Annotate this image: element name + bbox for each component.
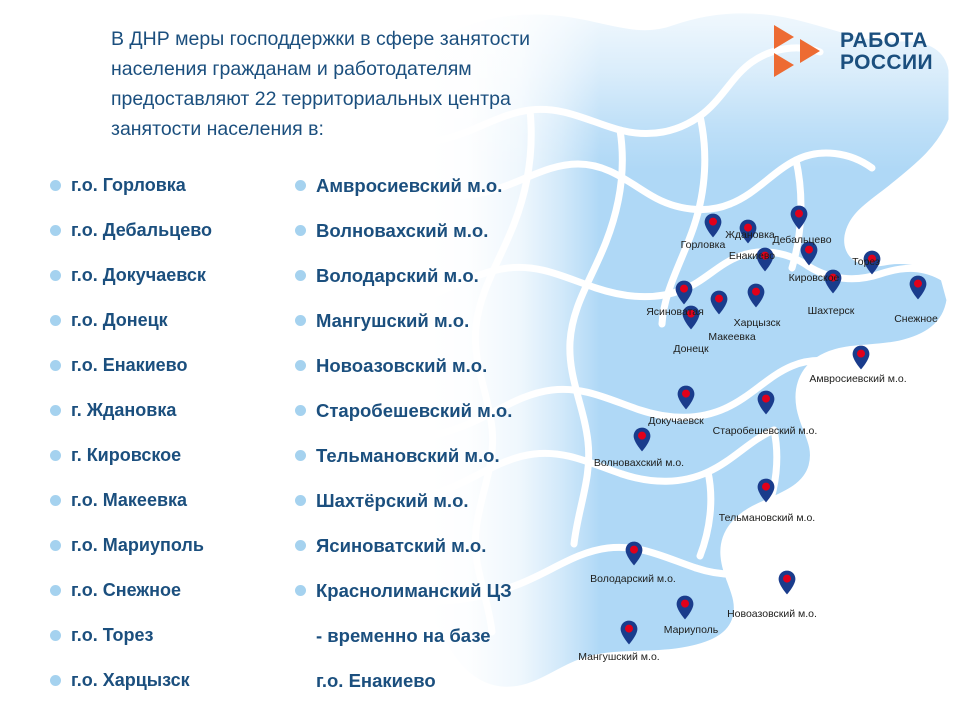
- bullet-icon: [50, 630, 61, 641]
- bullet-icon: [50, 540, 61, 551]
- list-item-label: Шахтёрский м.о.: [316, 478, 469, 523]
- bullet-icon: [50, 225, 61, 236]
- logo-wordmark: РАБОТА РОССИИ: [840, 30, 933, 75]
- list-item: г.о. Горловка: [50, 163, 295, 208]
- bullet-icon: [50, 270, 61, 281]
- headline-line-1: В ДНР меры господдержки в сфере занятост…: [111, 24, 616, 54]
- list-item: Волновахский м.о.: [295, 208, 625, 253]
- list-item-label: Амвросиевский м.о.: [316, 163, 502, 208]
- list-item-label: г.о. Енакиево: [71, 343, 188, 388]
- bullet-icon: [50, 450, 61, 461]
- list-item-label: - временно на базе: [316, 613, 491, 658]
- list-item: г.о. Мариуполь: [50, 523, 295, 568]
- list-item-label: г. Ждановка: [71, 388, 176, 433]
- bullet-icon: [295, 225, 306, 236]
- list-item: г.о. Макеевка: [50, 478, 295, 523]
- bullet-icon: [50, 180, 61, 191]
- list-item: г. Кировское: [50, 433, 295, 478]
- list-item: г.о. Докучаевск: [50, 253, 295, 298]
- list-item: Тельмановский м.о.: [295, 433, 625, 478]
- list-item-label: Володарский м.о.: [316, 253, 479, 298]
- list-item-label: Мангушский м.о.: [316, 298, 469, 343]
- list-item-label: г.о. Енакиево: [316, 658, 436, 703]
- list-column-cities: г.о. Горловкаг.о. Дебальцевог.о. Докучае…: [50, 163, 295, 703]
- list-item-label: Старобешевский м.о.: [316, 388, 512, 433]
- list-item-label: г.о. Харцызск: [71, 658, 190, 703]
- list-item-label: Новоазовский м.о.: [316, 343, 487, 388]
- list-item: г.о. Торез: [50, 613, 295, 658]
- headline-line-3: предоставляют 22 территориальных центра: [111, 84, 616, 114]
- list-item-label: Краснолиманский ЦЗ: [316, 568, 512, 613]
- three-orange-triangles-icon: [772, 24, 828, 80]
- list-item: Шахтёрский м.о.: [295, 478, 625, 523]
- list-item-label: Тельмановский м.о.: [316, 433, 500, 478]
- bullet-icon: [295, 450, 306, 461]
- list-item: Мангушский м.о.: [295, 298, 625, 343]
- bullet-icon: [295, 360, 306, 371]
- list-item: - временно на базе: [295, 613, 625, 658]
- centers-list: г.о. Горловкаг.о. Дебальцевог.о. Докучае…: [50, 163, 625, 703]
- list-item-label: г.о. Донецк: [71, 298, 168, 343]
- list-item-label: г.о. Докучаевск: [71, 253, 206, 298]
- brand-logo: РАБОТА РОССИИ: [772, 24, 933, 80]
- list-item-label: г.о. Снежное: [71, 568, 181, 613]
- infographic-poster: ГорловкаДебальцевоЕнакиевоЖдановкаКировс…: [0, 0, 960, 711]
- list-item: Новоазовский м.о.: [295, 343, 625, 388]
- bullet-icon: [50, 315, 61, 326]
- list-item-label: г.о. Мариуполь: [71, 523, 204, 568]
- bullet-icon: [50, 495, 61, 506]
- logo-line-1: РАБОТА: [840, 30, 933, 52]
- page-title: В ДНР меры господдержки в сфере занятост…: [111, 24, 616, 144]
- bullet-icon: [50, 675, 61, 686]
- list-item-label: Ясиноватский м.о.: [316, 523, 486, 568]
- bullet-icon: [50, 405, 61, 416]
- headline-line-2: населения гражданам и работодателям: [111, 54, 616, 84]
- list-item: г.о. Енакиево: [295, 658, 625, 703]
- list-item: Краснолиманский ЦЗ: [295, 568, 625, 613]
- list-item-label: г.о. Дебальцево: [71, 208, 212, 253]
- list-item: г.о. Дебальцево: [50, 208, 295, 253]
- list-item: г.о. Енакиево: [50, 343, 295, 388]
- list-item: г.о. Харцызск: [50, 658, 295, 703]
- list-item: г.о. Снежное: [50, 568, 295, 613]
- list-item: г.о. Донецк: [50, 298, 295, 343]
- bullet-icon: [295, 405, 306, 416]
- bullet-icon: [295, 495, 306, 506]
- list-item-label: Волновахский м.о.: [316, 208, 488, 253]
- bullet-icon: [295, 180, 306, 191]
- list-item: г. Ждановка: [50, 388, 295, 433]
- list-item: Ясиноватский м.о.: [295, 523, 625, 568]
- list-item-label: г.о. Горловка: [71, 163, 186, 208]
- bullet-icon: [50, 585, 61, 596]
- bullet-icon: [50, 360, 61, 371]
- list-item: Володарский м.о.: [295, 253, 625, 298]
- headline-line-4: занятости населения в:: [111, 114, 616, 144]
- logo-line-2: РОССИИ: [840, 52, 933, 74]
- list-item: Амвросиевский м.о.: [295, 163, 625, 208]
- bullet-icon: [295, 585, 306, 596]
- list-item-label: г. Кировское: [71, 433, 181, 478]
- bullet-icon: [295, 540, 306, 551]
- list-item: Старобешевский м.о.: [295, 388, 625, 433]
- list-item-label: г.о. Торез: [71, 613, 154, 658]
- bullet-icon: [295, 270, 306, 281]
- list-item-label: г.о. Макеевка: [71, 478, 187, 523]
- bullet-icon: [295, 315, 306, 326]
- list-column-districts: Амвросиевский м.о.Волновахский м.о.Волод…: [295, 163, 625, 703]
